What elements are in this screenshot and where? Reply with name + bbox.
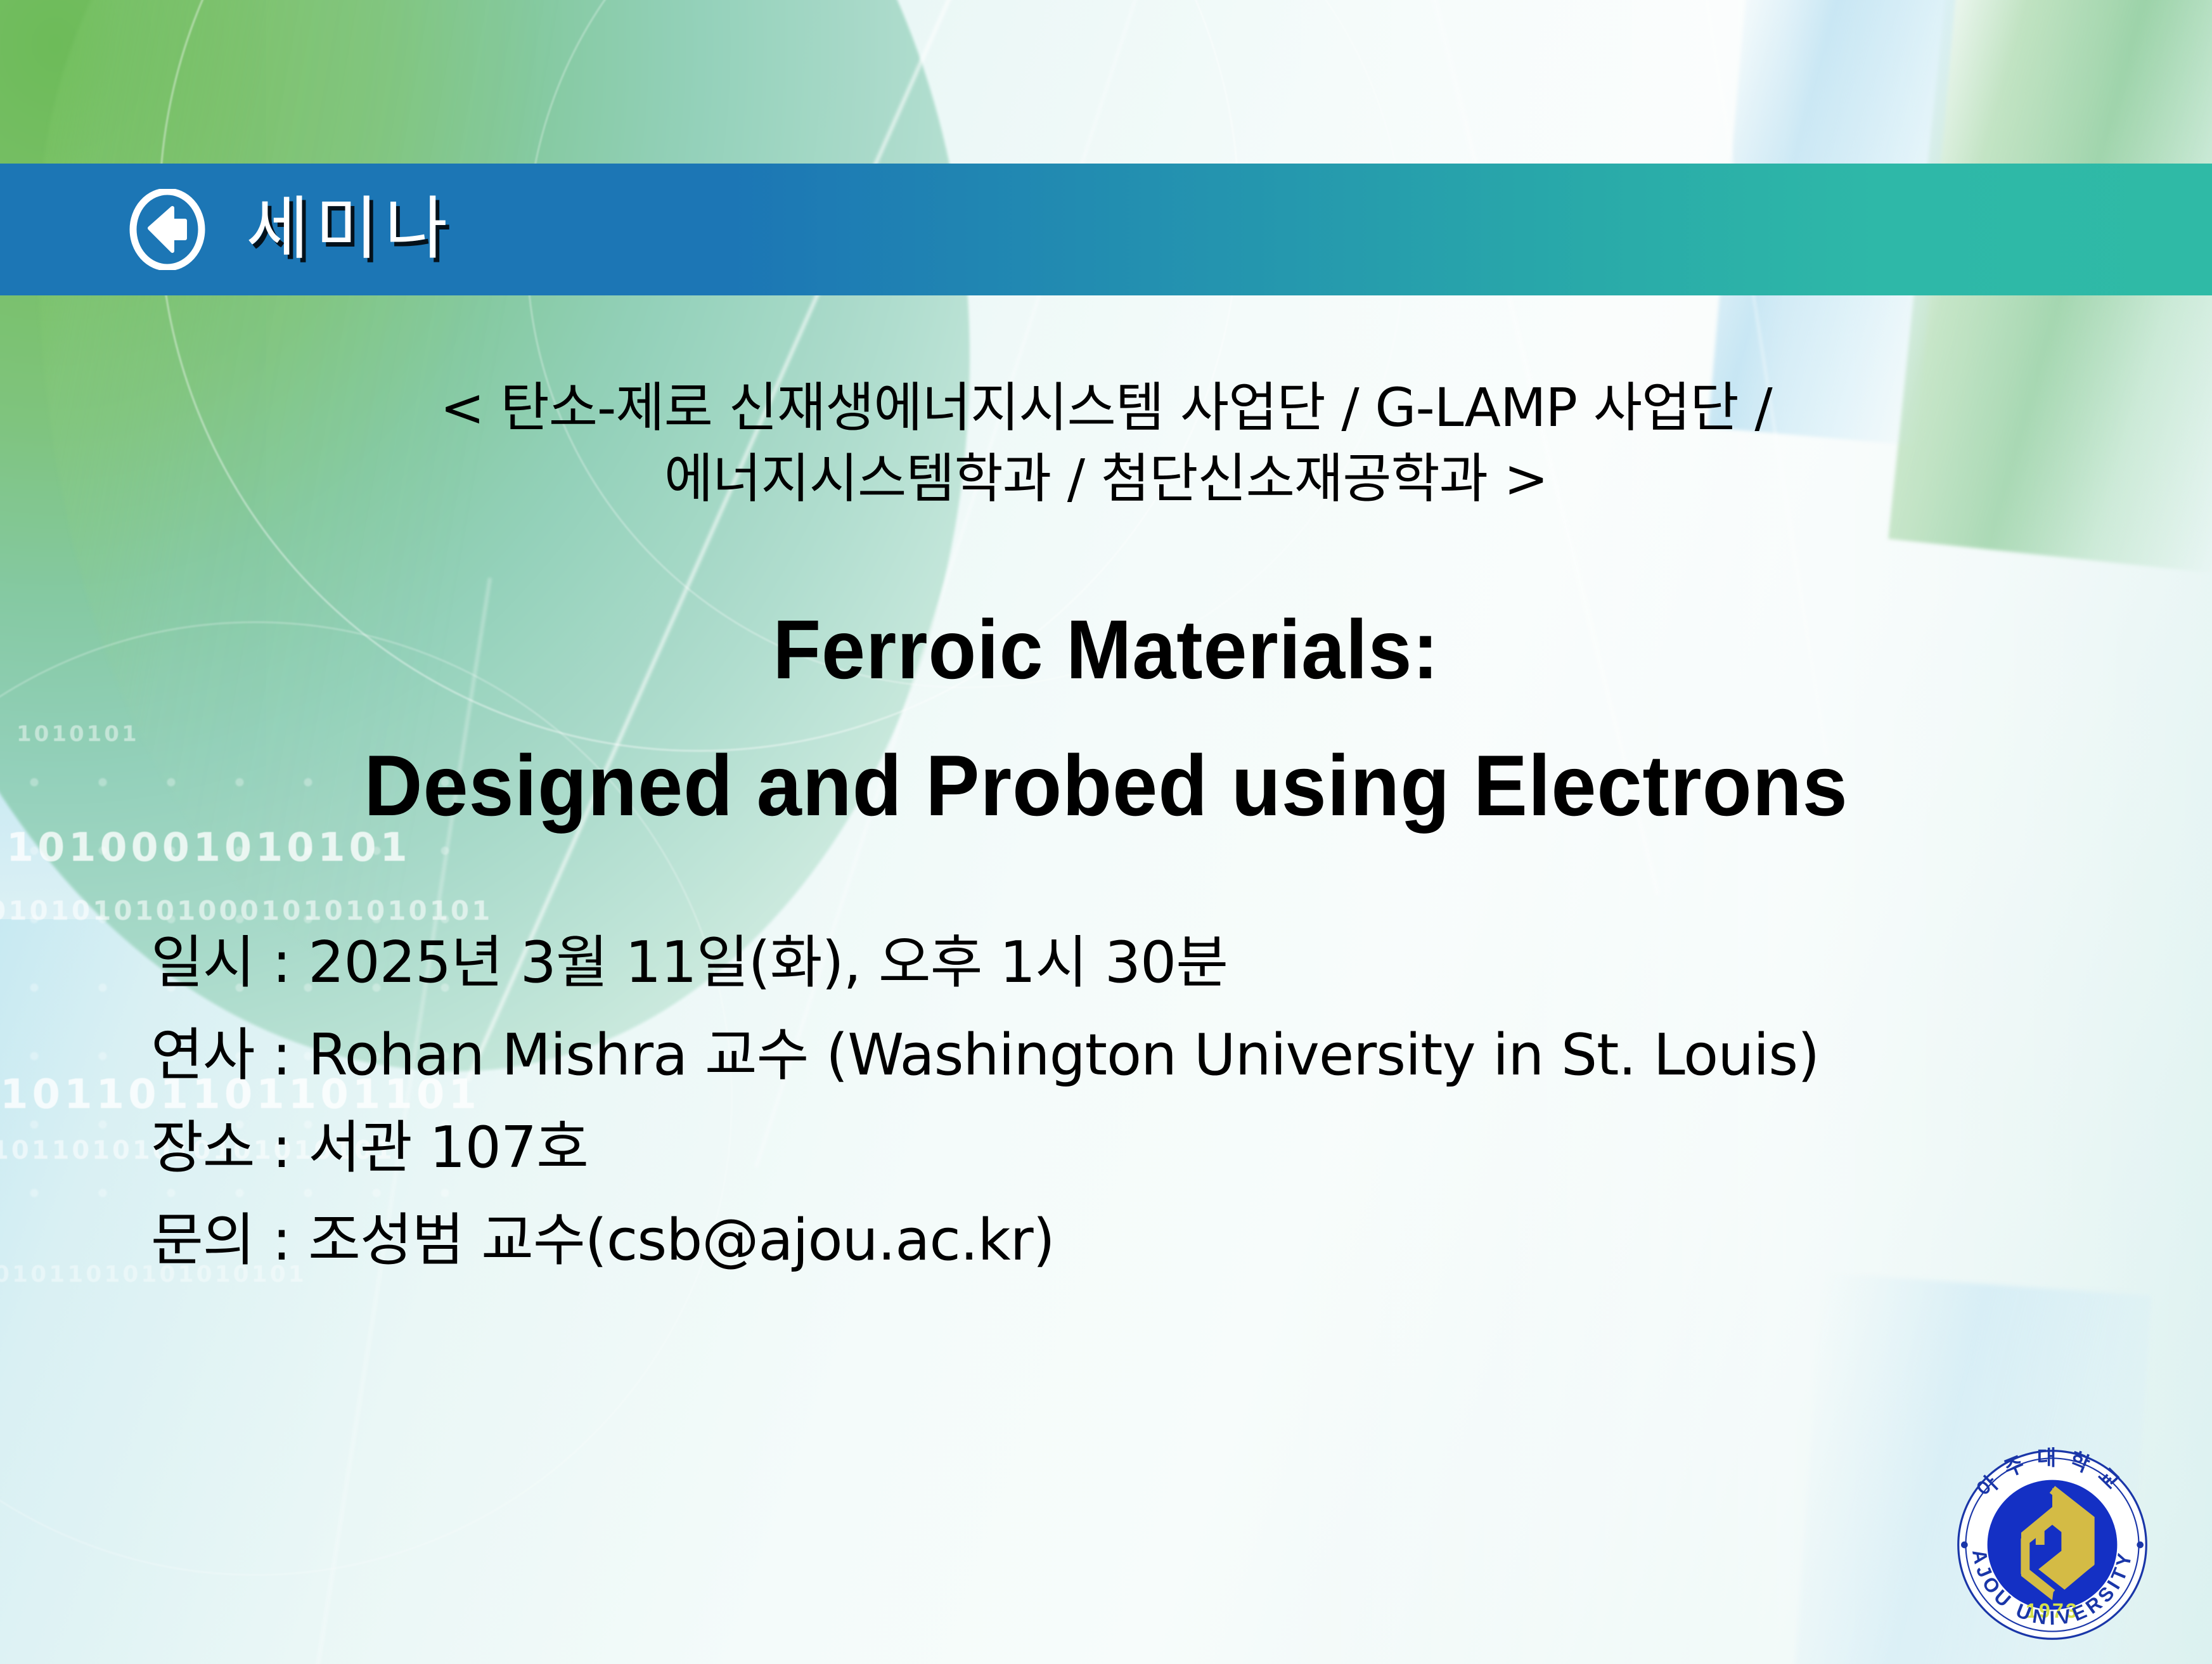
detail-contact: 문의 : 조성범 교수(csb@ajou.ac.kr) <box>151 1194 2212 1287</box>
organizer-line-1: < 탄소-제로 신재생에너지시스템 사업단 / G-LAMP 사업단 / <box>0 373 2212 444</box>
organizer-block: < 탄소-제로 신재생에너지시스템 사업단 / G-LAMP 사업단 / 에너지… <box>0 373 2212 514</box>
ajou-university-logo: 1973 아주대학교 AJOU UNIVERSITY <box>1951 1443 2154 1646</box>
seminar-title-line-1: Ferroic Materials: <box>67 583 2146 716</box>
seminar-title-line-2: Designed and Probed using Electrons <box>67 717 2146 855</box>
seminar-poster: 1010101 1010001010101 010101010100010101… <box>0 0 2212 1664</box>
back-arrow-circle-icon[interactable] <box>127 189 208 270</box>
header-title: 세미나 <box>246 195 454 264</box>
detail-datetime: 일시 : 2025년 3월 11일(화), 오후 1시 30분 <box>151 917 2212 1009</box>
seminar-details: 일시 : 2025년 3월 11일(화), 오후 1시 30분 연사 : Roh… <box>0 917 2212 1286</box>
poster-content: < 탄소-제로 신재생에너지시스템 사업단 / G-LAMP 사업단 / 에너지… <box>0 295 2212 1286</box>
organizer-line-2: 에너지시스템학과 / 첨단신소재공학과 > <box>0 444 2212 515</box>
seminar-title: Ferroic Materials: Designed and Probed u… <box>67 583 2146 855</box>
header-bar: 세미나 <box>0 164 2212 295</box>
detail-venue: 장소 : 서관 107호 <box>151 1102 2212 1194</box>
detail-speaker: 연사 : Rohan Mishra 교수 (Washington Univers… <box>151 1009 2212 1102</box>
